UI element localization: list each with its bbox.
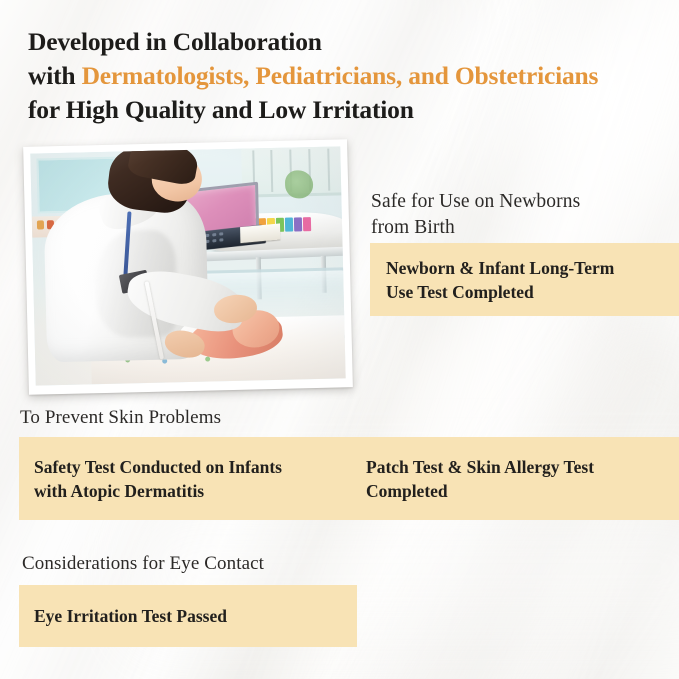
clinic-photo xyxy=(30,146,345,385)
callout-infants-line-2: with Atopic Dermatitis xyxy=(34,481,204,501)
page-headline: Developed in Collaboration with Dermatol… xyxy=(28,25,668,127)
section-label-newborn-line-1: Safe for Use on Newborns xyxy=(371,191,580,212)
headline-line-2: with Dermatologists, Pediatricians, and … xyxy=(28,59,668,93)
callout-eye-text: Eye Irritation Test Passed xyxy=(34,604,227,628)
callout-eye-irritation-test: Eye Irritation Test Passed xyxy=(19,585,357,647)
headline-line-1: Developed in Collaboration xyxy=(28,25,668,59)
promo-infographic: Developed in Collaboration with Dermatol… xyxy=(0,0,679,679)
section-label-newborn-line-2: from Birth xyxy=(371,217,455,238)
callout-patch-line-1: Patch Test & Skin Allergy Test xyxy=(366,457,594,477)
callout-infants-line-1: Safety Test Conducted on Infants xyxy=(34,457,282,477)
callout-newborn-infant-test: Newborn & Infant Long-Term Use Test Comp… xyxy=(370,243,679,316)
callout-newborn-text: Newborn & Infant Long-Term Use Test Comp… xyxy=(386,256,614,304)
callout-atopic-dermatitis-test: Safety Test Conducted on Infants with At… xyxy=(19,437,361,520)
headline-accent-text: Dermatologists, Pediatricians, and Obste… xyxy=(82,61,599,90)
section-label-newborn: Safe for Use on Newborns from Birth xyxy=(371,189,671,241)
callout-infants-text: Safety Test Conducted on Infants with At… xyxy=(34,455,282,503)
section-label-skin-problems: To Prevent Skin Problems xyxy=(20,407,221,429)
photo-frame xyxy=(23,139,353,395)
section-label-eye-contact: Considerations for Eye Contact xyxy=(22,553,264,575)
callout-patch-line-2: Completed xyxy=(366,481,448,501)
headline-line-2-prefix: with xyxy=(28,61,82,90)
callout-newborn-line-2: Use Test Completed xyxy=(386,282,534,302)
callout-patch-text: Patch Test & Skin Allergy Test Completed xyxy=(366,455,594,503)
callout-newborn-line-1: Newborn & Infant Long-Term xyxy=(386,258,614,278)
headline-line-3: for High Quality and Low Irritation xyxy=(28,93,668,127)
photo-vignette xyxy=(30,146,345,385)
callout-patch-allergy-test: Patch Test & Skin Allergy Test Completed xyxy=(350,437,679,520)
